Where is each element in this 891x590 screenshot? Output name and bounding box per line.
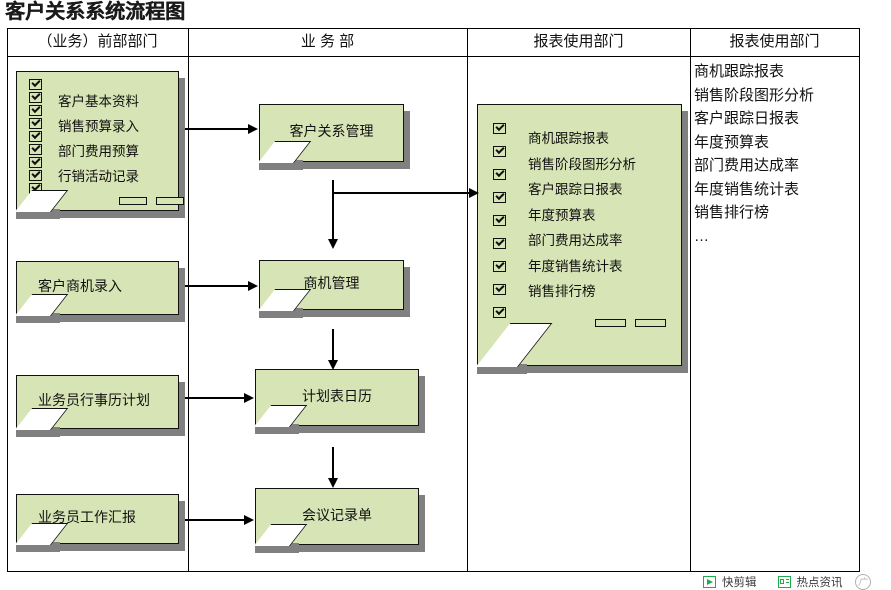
- list-item: 部门费用达成率: [694, 154, 854, 178]
- watermark-label-1: 快剪辑: [722, 574, 757, 590]
- checkbox-icon[interactable]: [493, 307, 506, 318]
- list-item: 部门费用达成率: [528, 228, 636, 254]
- checkbox-icon[interactable]: [29, 157, 42, 168]
- list-item: 客户跟踪日报表: [528, 177, 636, 203]
- arrow-calendar-plan-to-schedule: [185, 397, 245, 399]
- list-item: 销售排行榜: [528, 279, 636, 305]
- list-item: …: [694, 225, 854, 249]
- arrow-opportunity-to-schedule: [332, 329, 334, 361]
- checkbox-icon[interactable]: [493, 123, 506, 134]
- report-checklist-items: 商机跟踪报表 销售阶段图形分析 客户跟踪日报表 年度预算表 部门费用达成率 年度…: [528, 126, 636, 305]
- checkbox-icon[interactable]: [29, 79, 42, 90]
- page-title: 客户关系系统流程图: [5, 0, 185, 24]
- grid-col-border-0: [7, 28, 8, 572]
- checkbox-icon[interactable]: [493, 169, 506, 180]
- doc-button-2[interactable]: [156, 197, 184, 205]
- arrow-schedule-to-meeting: [332, 447, 334, 479]
- list-item: 销售阶段图形分析: [528, 152, 636, 178]
- arrow-head-icon: [328, 360, 338, 370]
- arrow-work-report-to-meeting: [185, 519, 245, 521]
- list-item: 行销活动记录: [58, 164, 139, 189]
- checkbox-icon[interactable]: [29, 118, 42, 129]
- checkbox-icon[interactable]: [29, 170, 42, 181]
- list-item: 部门费用预算: [58, 139, 139, 164]
- arrow-crm-to-reports: [333, 192, 470, 194]
- play-icon: [703, 576, 716, 588]
- list-item: 销售排行榜: [694, 201, 854, 225]
- doc-button-group: [595, 319, 666, 327]
- doc-meeting-minutes[interactable]: 会议记录单: [255, 488, 419, 545]
- list-item: 商机跟踪报表: [694, 60, 854, 84]
- doc-button-group: [119, 197, 184, 205]
- list-item: 年度销售统计表: [528, 254, 636, 280]
- arrow-head-icon: [244, 515, 254, 525]
- checkbox-icon[interactable]: [29, 105, 42, 116]
- checkbox-icon[interactable]: [493, 192, 506, 203]
- grid-line-header: [7, 56, 860, 57]
- grid-line-bottom: [7, 571, 860, 572]
- doc-report-output-checklist[interactable]: 商机跟踪报表 销售阶段图形分析 客户跟踪日报表 年度预算表 部门费用达成率 年度…: [477, 104, 682, 366]
- arrow-checklist-to-crm: [185, 128, 249, 130]
- doc-salesperson-work-report[interactable]: 业务员工作汇报: [16, 494, 179, 544]
- list-item: 销售阶段图形分析: [694, 84, 854, 108]
- news-icon: [778, 576, 791, 588]
- grid-col-border-4: [859, 28, 860, 572]
- checkbox-icon[interactable]: [493, 238, 506, 249]
- list-item: 客户跟踪日报表: [694, 107, 854, 131]
- grid-col-border-2: [467, 28, 468, 572]
- arrow-opportunity-entry-to-management: [185, 285, 249, 287]
- arrow-crm-to-opportunity: [332, 180, 334, 240]
- watermark-bar: 快剪辑 热点资讯 广: [703, 573, 871, 590]
- checkbox-icon[interactable]: [493, 261, 506, 272]
- column-header-front-office: （业务）前部部门: [7, 28, 188, 56]
- doc-customer-opportunity-entry[interactable]: 客户商机录入: [16, 261, 179, 315]
- column-header-report-dept-1: 报表使用部门: [467, 28, 690, 56]
- doc-button-1[interactable]: [119, 197, 147, 205]
- checkbox-icon[interactable]: [29, 144, 42, 155]
- checkbox-icon[interactable]: [493, 146, 506, 157]
- ad-mark-icon: 广: [855, 574, 871, 590]
- arrow-head-icon: [469, 188, 479, 198]
- doc-opportunity-management[interactable]: 商机管理: [259, 260, 404, 310]
- checkbox-icon[interactable]: [29, 131, 42, 142]
- doc-front-office-checklist[interactable]: 客户基本资料 销售预算录入 部门费用预算 行销活动记录: [16, 71, 179, 211]
- checklist-items: 客户基本资料 销售预算录入 部门费用预算 行销活动记录: [58, 89, 139, 189]
- column-header-business-dept: 业 务 部: [188, 28, 467, 56]
- checkbox-column: [493, 123, 506, 320]
- list-item: 销售预算录入: [58, 114, 139, 139]
- arrow-head-icon: [248, 281, 258, 291]
- doc-crm-management[interactable]: 客户关系管理: [259, 104, 404, 162]
- checkbox-icon[interactable]: [29, 92, 42, 103]
- watermark-label-2: 热点资讯: [797, 574, 843, 590]
- arrow-head-icon: [328, 239, 338, 249]
- arrow-head-icon: [248, 124, 258, 134]
- list-item: 年度预算表: [528, 203, 636, 229]
- checkbox-icon[interactable]: [493, 284, 506, 295]
- list-item: 年度销售统计表: [694, 178, 854, 202]
- flowchart-page: 客户关系系统流程图 （业务）前部部门 业 务 部 报表使用部门 报表使用部门: [0, 0, 891, 590]
- list-item: 商机跟踪报表: [528, 126, 636, 152]
- arrow-head-icon: [244, 393, 254, 403]
- report-text-list: 商机跟踪报表 销售阶段图形分析 客户跟踪日报表 年度预算表 部门费用达成率 年度…: [694, 60, 854, 248]
- list-item: 客户基本资料: [58, 89, 139, 114]
- doc-schedule-calendar[interactable]: 计划表日历: [255, 369, 419, 426]
- doc-button-2[interactable]: [635, 319, 666, 327]
- grid-col-border-1: [188, 28, 189, 572]
- column-header-report-dept-2: 报表使用部门: [690, 28, 859, 56]
- doc-button-1[interactable]: [595, 319, 626, 327]
- doc-salesperson-calendar-plan[interactable]: 业务员行事历计划: [16, 375, 179, 429]
- grid-col-border-3: [690, 28, 691, 572]
- list-item: 年度预算表: [694, 131, 854, 155]
- checkbox-icon[interactable]: [493, 215, 506, 226]
- arrow-head-icon: [328, 478, 338, 488]
- checkbox-column: [29, 79, 42, 196]
